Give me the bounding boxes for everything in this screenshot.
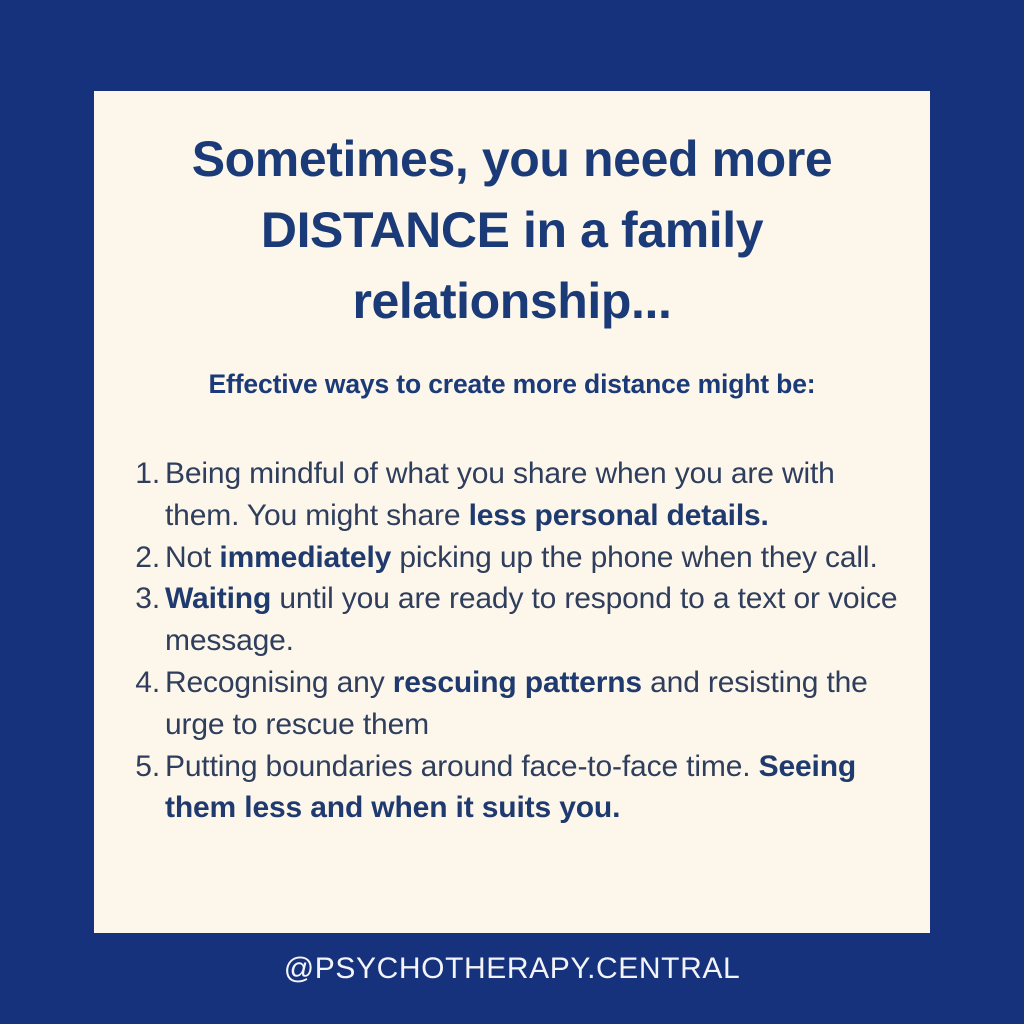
headline-line-1: Sometimes, you need more: [124, 124, 900, 195]
list-item-text: Recognising any rescuing patterns and re…: [165, 666, 868, 741]
list-item-text: Waiting until you are ready to respond t…: [165, 582, 897, 657]
page-title: Sometimes, you need more DISTANCE in a f…: [94, 91, 930, 337]
poster-canvas: Sometimes, you need more DISTANCE in a f…: [0, 0, 1024, 1024]
list-item: Waiting until you are ready to respond t…: [94, 578, 930, 662]
subheading: Effective ways to create more distance m…: [94, 337, 930, 401]
list-item-text: Putting boundaries around face-to-face t…: [165, 750, 856, 825]
content-card: Sometimes, you need more DISTANCE in a f…: [94, 91, 930, 933]
brand-handle: @PSYCHOTHERAPY.CENTRAL: [0, 950, 1024, 988]
list-item: Putting boundaries around face-to-face t…: [94, 746, 930, 830]
list-item-text: Being mindful of what you share when you…: [165, 457, 835, 532]
list-item: Recognising any rescuing patterns and re…: [94, 662, 930, 746]
headline-line-3: relationship...: [124, 266, 900, 337]
headline-line-2: DISTANCE in a family: [124, 195, 900, 266]
list-item: Being mindful of what you share when you…: [94, 453, 930, 537]
list-item: Not immediately picking up the phone whe…: [94, 537, 930, 579]
tips-list: Being mindful of what you share when you…: [94, 401, 930, 829]
list-item-text: Not immediately picking up the phone whe…: [165, 541, 878, 574]
